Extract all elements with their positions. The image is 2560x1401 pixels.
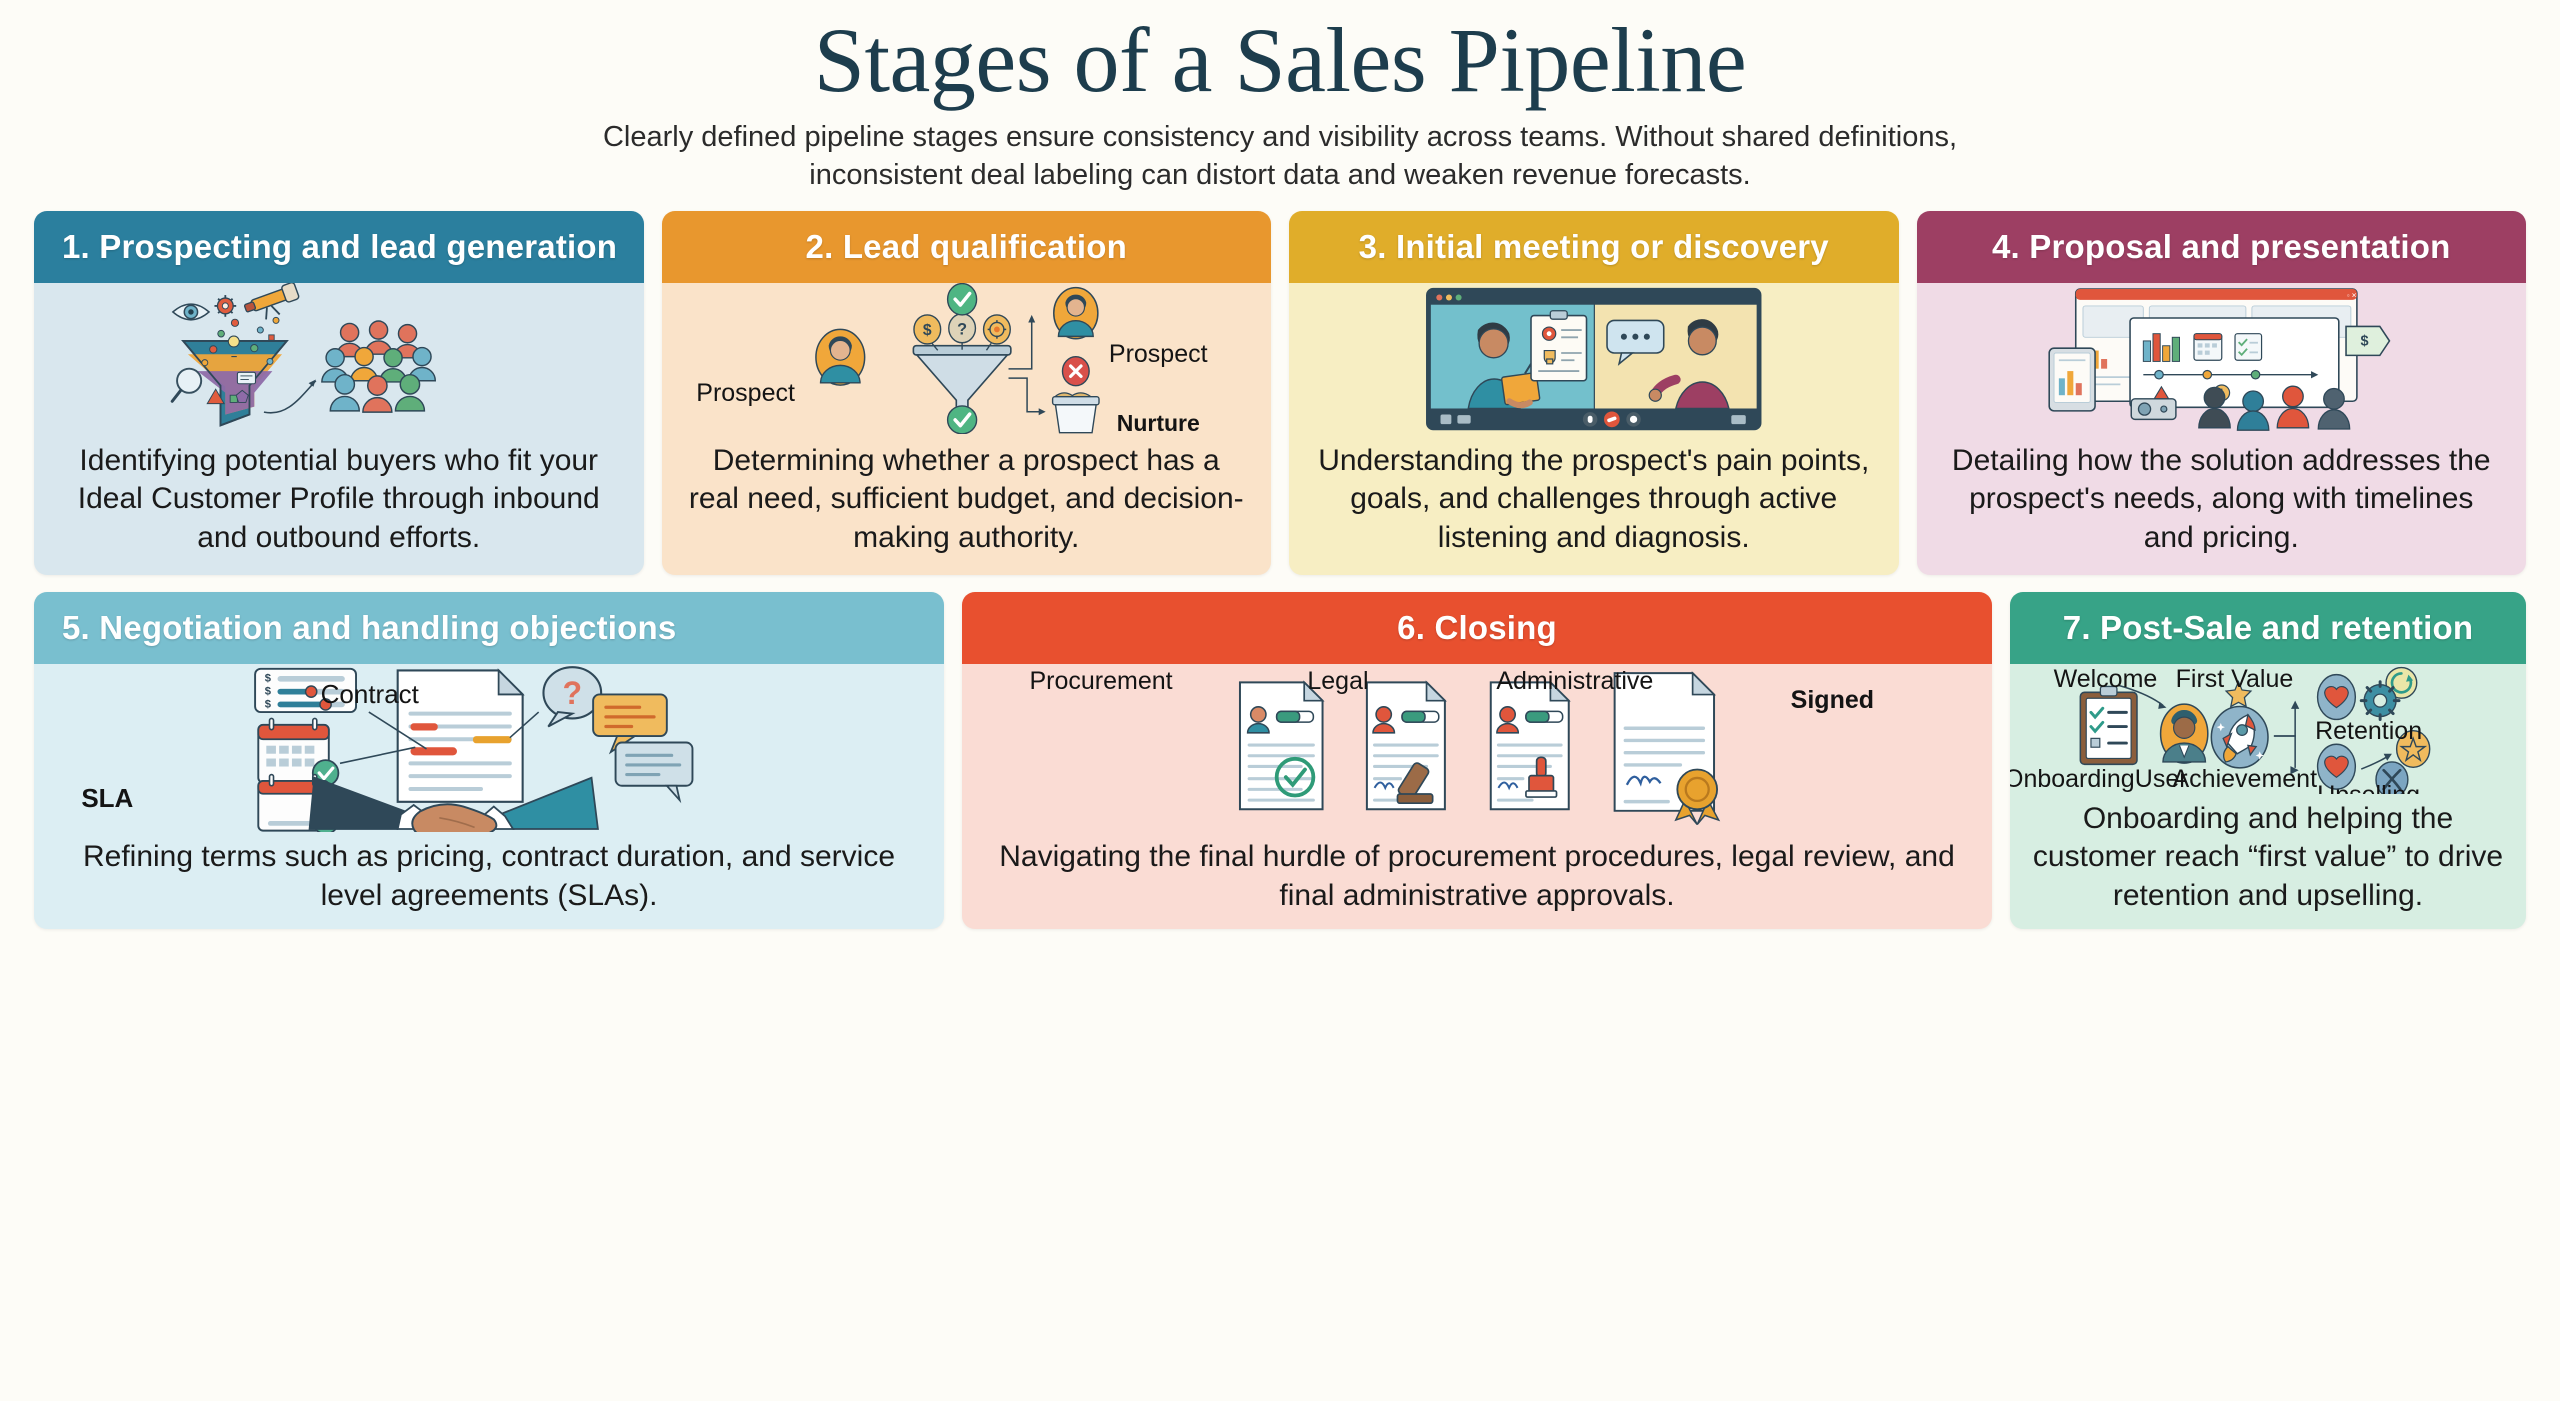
stage5-label-sla: SLA — [81, 783, 133, 814]
stage2-label-nurture: Nurture — [1117, 410, 1200, 434]
lead-dots — [218, 317, 279, 340]
stage-5-illustration: $ $ $ — [34, 664, 944, 832]
page-subtitle: Clearly defined pipeline stages ensure c… — [570, 118, 1990, 195]
document-icon-legal — [1367, 682, 1445, 809]
projector-icon — [2131, 399, 2176, 420]
svg-text:$: $ — [922, 322, 931, 339]
svg-text:$: $ — [265, 673, 272, 685]
stage-card-4-header: 4. Proposal and presentation — [1917, 211, 2527, 283]
stage-card-2-caption: Determining whether a prospect has a rea… — [662, 434, 1272, 575]
nurture-bin-icon — [1052, 393, 1098, 433]
eye-icon — [173, 304, 209, 320]
presentation-board — [1531, 311, 1587, 381]
rocket-icon — [2211, 706, 2268, 767]
avatar-icon-left — [815, 329, 864, 385]
stage-card-5-header: 5. Negotiation and handling objections — [34, 592, 944, 664]
document-icon-procurement — [1240, 682, 1323, 809]
stage7-label-achievement-milestone: Achievementmilestone — [2173, 765, 2318, 794]
stage-card-2-header: 2. Lead qualification — [662, 211, 1272, 283]
stage6-label-administrative: Administrative — [1496, 667, 1653, 696]
stages-row-top: 1. Prospecting and lead generation — [34, 211, 2526, 575]
price-tag-icon: $ — [2346, 326, 2389, 355]
stage2-label-prospect-left: Prospect — [696, 379, 795, 408]
stage-card-3-caption: Understanding the prospect's pain points… — [1289, 434, 1899, 575]
gear-icon — [1542, 327, 1555, 340]
check-icon-bottom — [947, 406, 976, 434]
check-icon-top — [947, 284, 976, 315]
svg-text:?: ? — [563, 675, 583, 711]
stage6-label-procurement: Procurement — [1029, 667, 1172, 696]
calendar-icon — [2193, 334, 2221, 361]
stage-card-7[interactable]: 7. Post-Sale and retention — [2010, 592, 2526, 929]
stage-7-illustration: Welcome First Value Retention Upselling … — [2010, 664, 2526, 794]
stage-card-3-header: 3. Initial meeting or discovery — [1289, 211, 1899, 283]
stage7-onboarding-line1: Onboardingtoolkit — [2010, 765, 2135, 794]
stage-card-1-caption: Identifying potential buyers who fit you… — [34, 434, 644, 575]
stage-card-1-header: 1. Prospecting and lead generation — [34, 211, 644, 283]
avatar-icon-right — [1053, 288, 1097, 339]
checklist-icon — [2235, 334, 2262, 361]
avatar-icon — [2161, 704, 2208, 763]
page-header: Stages of a Sales Pipeline Clearly defin… — [34, 0, 2526, 195]
stage-card-7-caption: Onboarding and helping the customer reac… — [2010, 794, 2526, 929]
trophy-icon — [1544, 351, 1555, 364]
stage-6-illustration: Procurement Legal Administrative Signed — [962, 664, 1992, 832]
gear-icon — [214, 295, 236, 317]
document-icon-administrative — [1491, 682, 1569, 809]
stage-card-4-caption: Detailing how the solution addresses the… — [1917, 434, 2527, 575]
heart-icon-retention — [2318, 675, 2356, 720]
stage6-label-signed: Signed — [1791, 686, 1874, 715]
stage-4-illustration: ▫ ✕ — [1917, 283, 2527, 434]
stage-card-6-caption: Navigating the final hurdle of procureme… — [962, 832, 1992, 929]
x-icon — [1062, 357, 1089, 386]
stage5-label-contract: Contract — [321, 679, 419, 710]
stage-card-6[interactable]: 6. Closing — [962, 592, 1992, 929]
svg-text:?: ? — [957, 321, 967, 339]
stage7-label-onboarding-toolkit: Onboardingtoolkit — [2010, 765, 2135, 794]
clipboard-icon — [2080, 686, 2137, 764]
telescope-icon — [242, 283, 302, 325]
gear-icon — [2361, 682, 2399, 720]
tablet-icon — [2049, 348, 2095, 411]
audience-group — [322, 321, 435, 412]
stage-card-3[interactable]: 3. Initial meeting or discovery — [1289, 211, 1899, 575]
stage7-label-upselling: Upselling — [2317, 781, 2420, 794]
svg-text:▫ ✕: ▫ ✕ — [2347, 292, 2357, 299]
ribbon-seal-icon — [1676, 769, 1719, 824]
magnifier-icon — [172, 369, 201, 402]
stage-2-illustration: $ ? — [662, 283, 1272, 434]
stage7-label-retention: Retention — [2315, 717, 2422, 746]
stage7-achievement-line: Achievementmilestone — [2173, 765, 2318, 794]
svg-text:$: $ — [265, 698, 272, 710]
infographic-page: Stages of a Sales Pipeline Clearly defin… — [0, 0, 2560, 1401]
stage2-label-prospect-right: Prospect — [1109, 340, 1208, 369]
question-icon: ? — [948, 314, 975, 350]
stage-card-4[interactable]: 4. Proposal and presentation ▫ ✕ — [1917, 211, 2527, 575]
slide-window — [2130, 318, 2339, 407]
svg-text:$: $ — [265, 685, 272, 697]
stage-card-6-header: 6. Closing — [962, 592, 1992, 664]
stage-card-7-header: 7. Post-Sale and retention — [2010, 592, 2526, 664]
stage-card-2[interactable]: 2. Lead qualification — [662, 211, 1272, 575]
stage-1-illustration — [34, 283, 644, 434]
stage6-label-legal: Legal — [1307, 667, 1368, 696]
stage-card-5-caption: Refining terms such as pricing, contract… — [34, 832, 944, 929]
stages-row-bottom: 5. Negotiation and handling objections $… — [34, 592, 2526, 929]
stage7-label-welcome: Welcome — [2054, 665, 2158, 694]
stage-card-1[interactable]: 1. Prospecting and lead generation — [34, 211, 644, 575]
page-title: Stages of a Sales Pipeline — [34, 14, 2526, 108]
svg-text:$: $ — [2360, 334, 2368, 350]
chat-bubble-icon-blue — [616, 742, 693, 800]
stage7-label-first-value: First Value — [2176, 665, 2294, 694]
stage-card-5[interactable]: 5. Negotiation and handling objections $… — [34, 592, 944, 929]
stage-3-illustration — [1289, 283, 1899, 434]
